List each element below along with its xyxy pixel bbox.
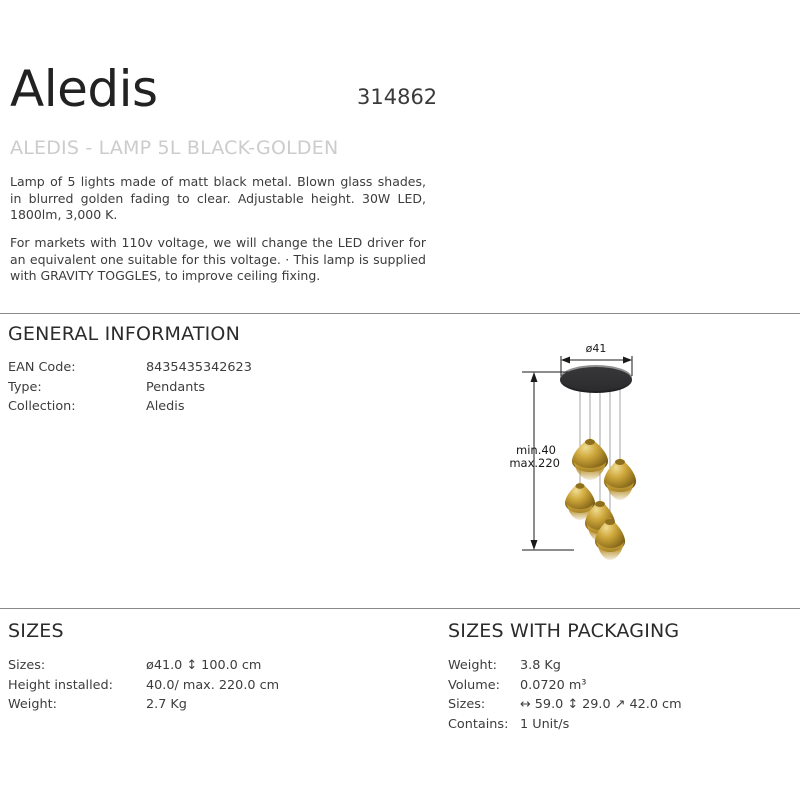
spec-label: Volume: [448, 676, 520, 696]
list-item: Weight: 3.8 Kg [448, 656, 682, 676]
spec-value: Aledis [146, 397, 252, 417]
product-reference: 314862 [357, 85, 437, 109]
spec-label: Contains: [448, 715, 520, 735]
page-title: Aledis [10, 64, 158, 114]
spec-label: Height installed: [8, 676, 146, 696]
list-item: Weight: 2.7 Kg [8, 695, 279, 715]
spec-value: 40.0/ max. 220.0 cm [146, 676, 279, 696]
sizes-list: Sizes: ø41.0 ↕ 100.0 cm Height installed… [8, 656, 279, 715]
list-item: EAN Code: 8435435342623 [8, 358, 252, 378]
divider-sizes [0, 608, 800, 609]
spec-label: EAN Code: [8, 358, 146, 378]
spec-value: 1 Unit/s [520, 715, 682, 735]
spec-value: ↔ 59.0 ↕ 29.0 ↗ 42.0 cm [520, 695, 682, 715]
spec-value: 2.7 Kg [146, 695, 279, 715]
pendant-shade [572, 438, 608, 480]
dimension-label-diameter: ø41 [586, 342, 607, 355]
spec-label: Sizes: [448, 695, 520, 715]
product-description-primary: Lamp of 5 lights made of matt black meta… [10, 174, 426, 224]
arrowhead-down-icon [531, 540, 538, 550]
product-subtitle: ALEDIS - LAMP 5L BLACK-GOLDEN [10, 137, 338, 159]
product-datasheet: Aledis 314862 ALEDIS - LAMP 5L BLACK-GOL… [0, 0, 800, 800]
list-item: Contains: 1 Unit/s [448, 715, 682, 735]
spec-value: 0.0720 m³ [520, 676, 682, 696]
arrowhead-up-icon [531, 372, 538, 382]
spec-label: Weight: [448, 656, 520, 676]
list-item: Collection: Aledis [8, 397, 252, 417]
list-item: Height installed: 40.0/ max. 220.0 cm [8, 676, 279, 696]
list-item: Sizes: ø41.0 ↕ 100.0 cm [8, 656, 279, 676]
dimension-label-height-max: max.220 [509, 456, 560, 470]
spec-label: Type: [8, 378, 146, 398]
spec-value: 3.8 Kg [520, 656, 682, 676]
spec-value: ø41.0 ↕ 100.0 cm [146, 656, 279, 676]
section-heading-sizes-with-packaging: SIZES WITH PACKAGING [448, 620, 679, 642]
spec-value: Pendants [146, 378, 252, 398]
arrowhead-right-icon [623, 357, 632, 364]
sizes-with-packaging-list: Weight: 3.8 Kg Volume: 0.0720 m³ Sizes: … [448, 656, 682, 734]
general-information-list: EAN Code: 8435435342623 Type: Pendants C… [8, 358, 252, 417]
section-heading-general-information: GENERAL INFORMATION [8, 323, 240, 345]
pendant-shade [604, 458, 636, 500]
divider-general-information [0, 313, 800, 314]
dimension-label-height-min: min.40 [516, 443, 556, 457]
spec-value: 8435435342623 [146, 358, 252, 378]
list-item: Type: Pendants [8, 378, 252, 398]
technical-drawing: ø41 min.40 max.220 [496, 330, 726, 585]
spec-label: Collection: [8, 397, 146, 417]
product-header: Aledis 314862 [10, 72, 790, 130]
arrowhead-left-icon [561, 357, 570, 364]
list-item: Sizes: ↔ 59.0 ↕ 29.0 ↗ 42.0 cm [448, 695, 682, 715]
spec-label: Sizes: [8, 656, 146, 676]
product-description-secondary: For markets with 110v voltage, we will c… [10, 235, 426, 285]
title-row: Aledis 314862 [10, 72, 790, 130]
section-heading-sizes: SIZES [8, 620, 64, 642]
list-item: Volume: 0.0720 m³ [448, 676, 682, 696]
spec-label: Weight: [8, 695, 146, 715]
